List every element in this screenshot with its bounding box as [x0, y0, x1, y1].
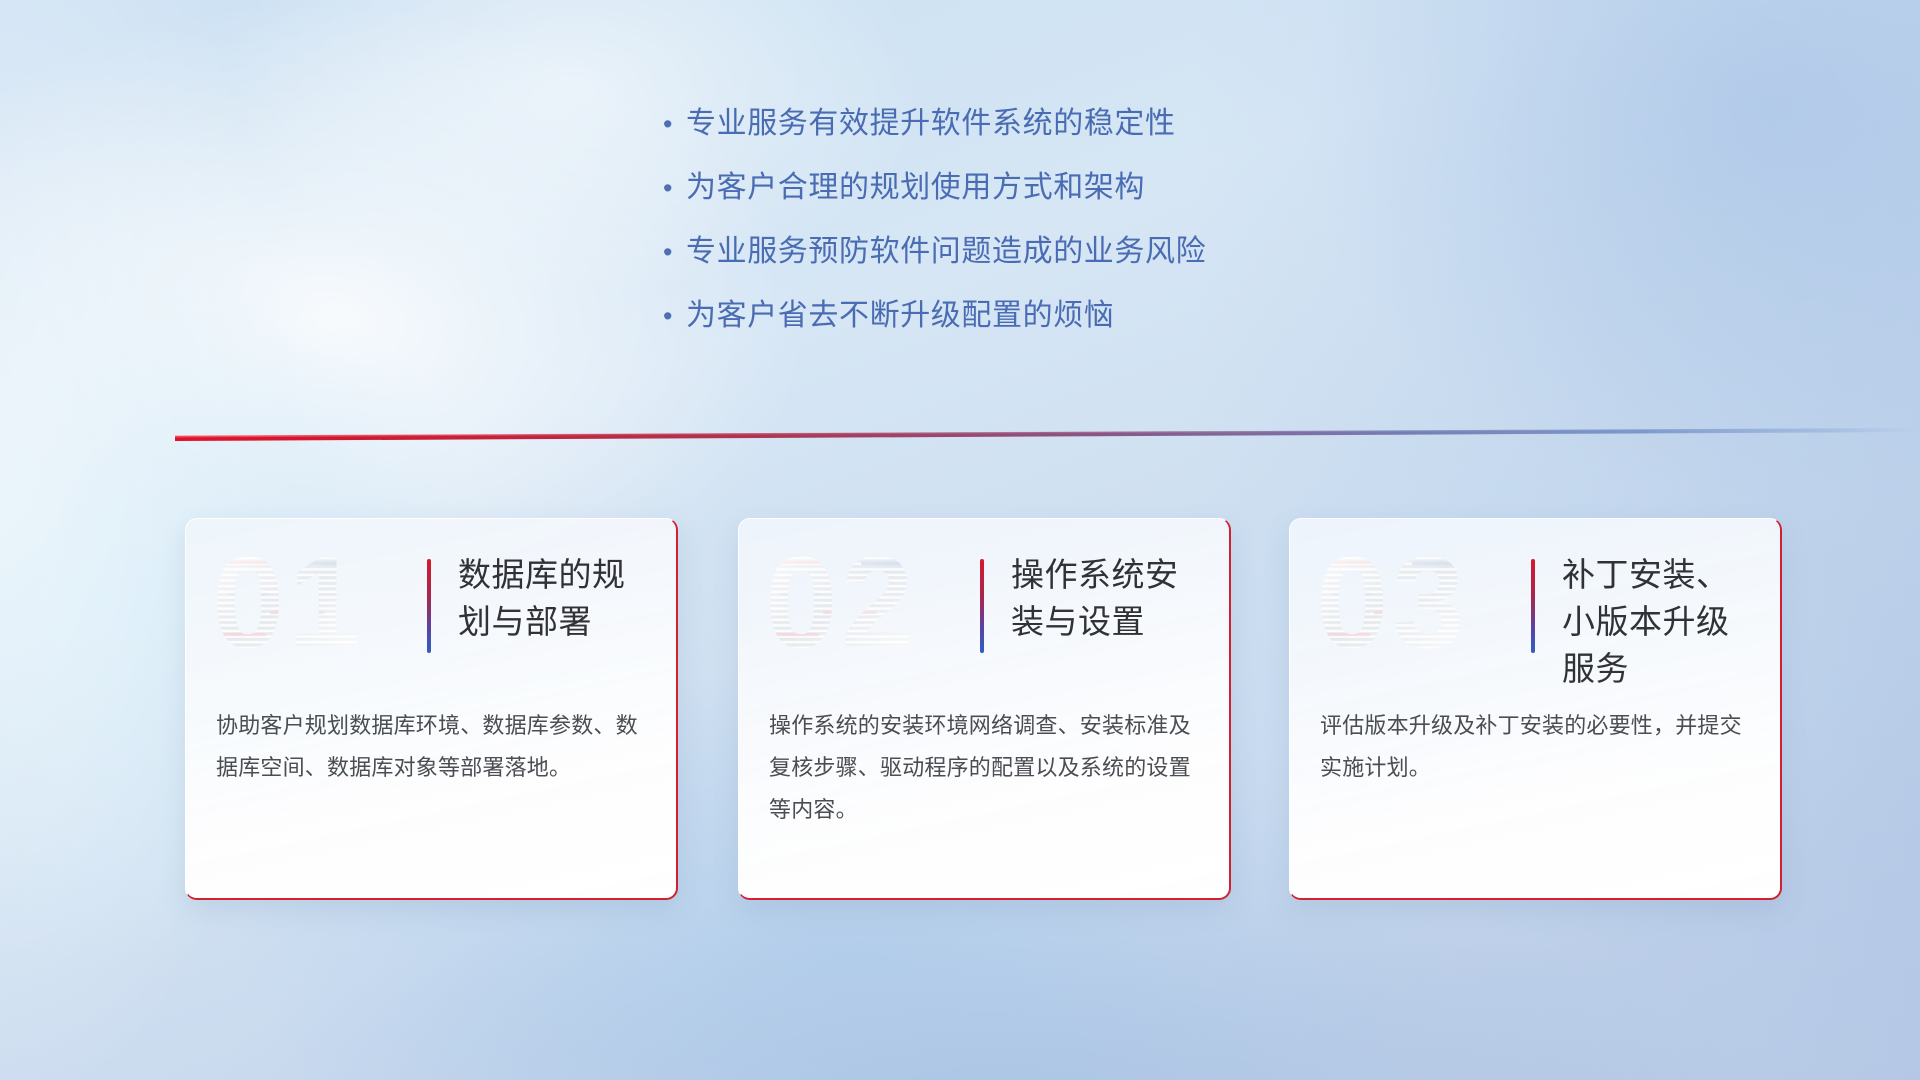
card-title: 补丁安装、小版本升级服务: [1562, 551, 1762, 692]
card-header: 01: [186, 519, 676, 687]
card-number-watermark: 03: [1312, 537, 1492, 673]
card-number-watermark: 02: [761, 537, 941, 673]
section-divider: [175, 420, 1920, 444]
service-card[interactable]: 01: [185, 518, 678, 900]
card-description: 评估版本升级及补丁安装的必要性，并提交实施计划。: [1320, 705, 1744, 789]
bullet-dot-icon: •: [660, 168, 686, 208]
card-header: 02: [739, 519, 1229, 687]
card-description: 协助客户规划数据库环境、数据库参数、数据库空间、数据库对象等部署落地。: [216, 705, 640, 789]
bullet-text: 专业服务有效提升软件系统的稳定性: [686, 104, 1176, 144]
list-item: • 为客户省去不断升级配置的烦恼: [660, 296, 1400, 360]
list-item: • 为客户合理的规划使用方式和架构: [660, 168, 1400, 232]
card-number-watermark: 01: [208, 537, 388, 673]
benefits-bullet-list: • 专业服务有效提升软件系统的稳定性 • 为客户合理的规划使用方式和架构 • 专…: [660, 104, 1400, 360]
bullet-text: 为客户省去不断升级配置的烦恼: [686, 296, 1114, 336]
bullet-text: 专业服务预防软件问题造成的业务风险: [686, 232, 1206, 272]
card-accent-bar: [980, 559, 984, 653]
service-card[interactable]: 03: [1289, 518, 1782, 900]
bullet-dot-icon: •: [660, 104, 686, 144]
bullet-text: 为客户合理的规划使用方式和架构: [686, 168, 1145, 208]
service-card-group: 01: [185, 518, 1785, 908]
card-accent-bar: [427, 559, 431, 653]
card-description: 操作系统的安装环境网络调查、安装标准及复核步骤、驱动程序的配置以及系统的设置等内…: [769, 705, 1193, 831]
service-card[interactable]: 02: [738, 518, 1231, 900]
card-title: 数据库的规划与部署: [458, 551, 658, 645]
bullet-dot-icon: •: [660, 296, 686, 336]
card-header: 03: [1290, 519, 1780, 687]
slide-root: • 专业服务有效提升软件系统的稳定性 • 为客户合理的规划使用方式和架构 • 专…: [0, 0, 1920, 1080]
bullet-dot-icon: •: [660, 232, 686, 272]
card-accent-bar: [1531, 559, 1535, 653]
list-item: • 专业服务预防软件问题造成的业务风险: [660, 232, 1400, 296]
card-title: 操作系统安装与设置: [1011, 551, 1211, 645]
list-item: • 专业服务有效提升软件系统的稳定性: [660, 104, 1400, 168]
